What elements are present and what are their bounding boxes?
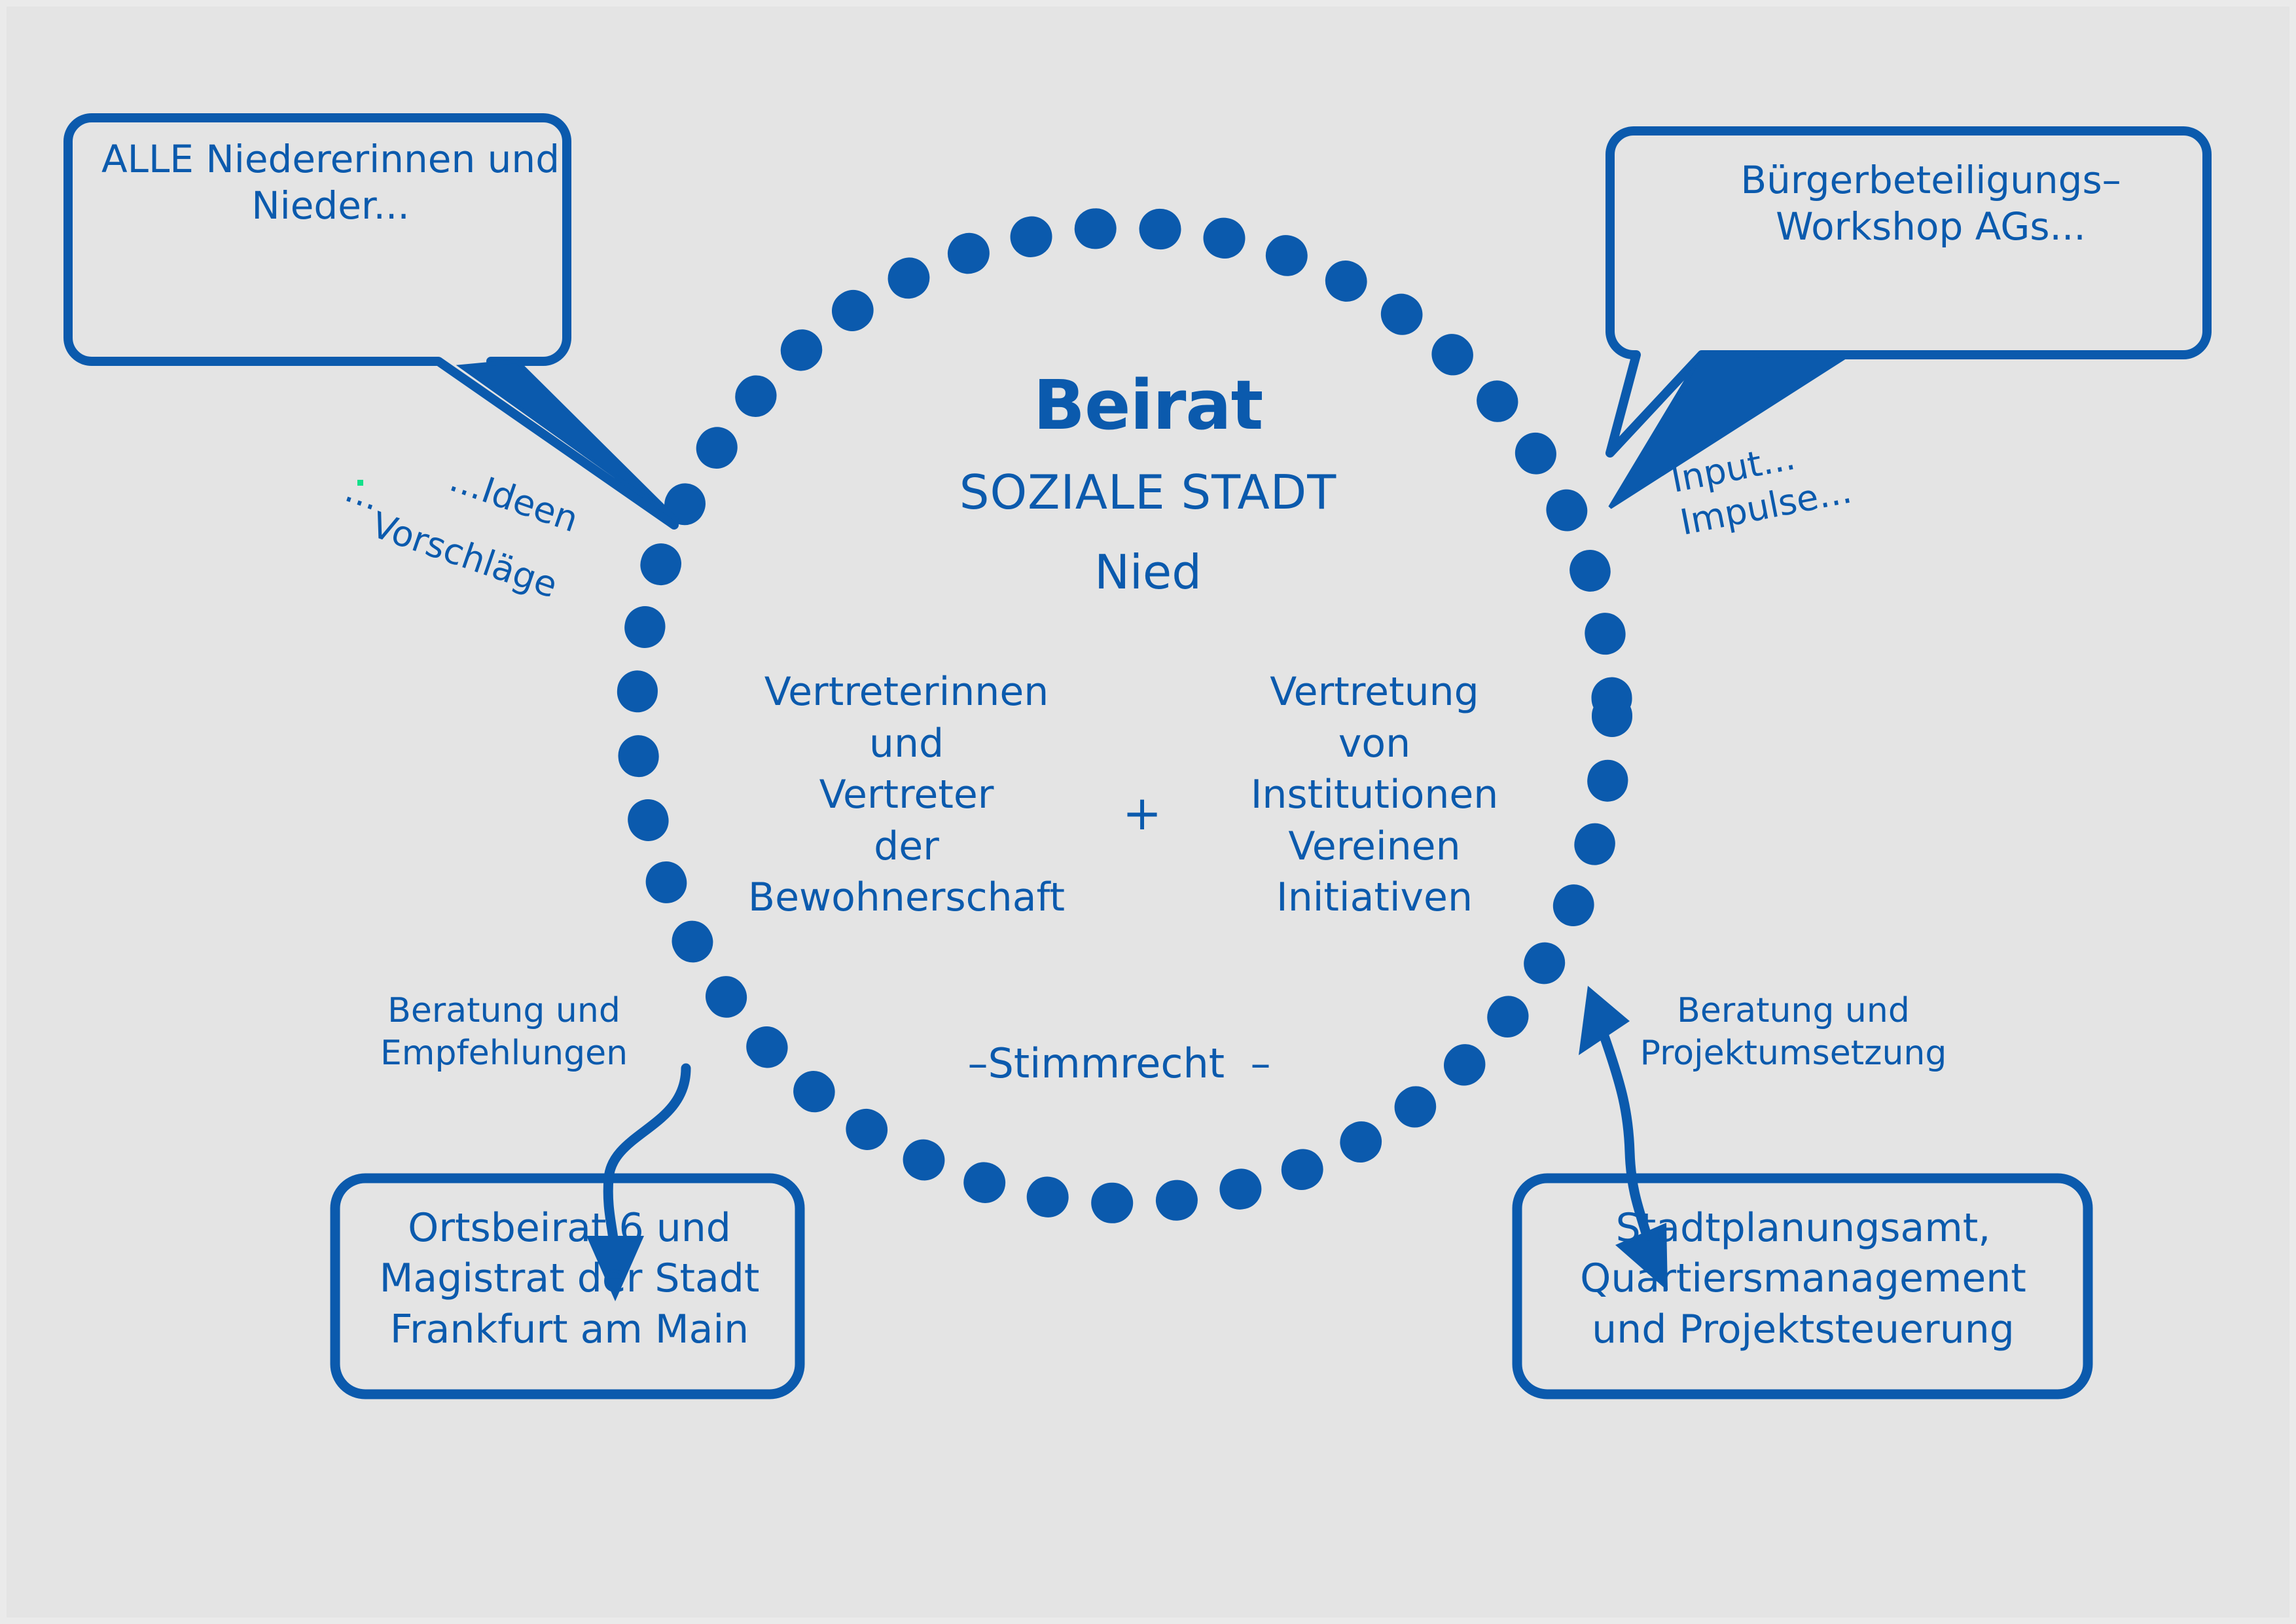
box-ortsbeirat-label: Ortsbeirat 6 und Magistrat der Stadt Fra…: [340, 1203, 798, 1355]
box-stadtplanungsamt-label: Stadtplanungsamt, Quartiersmanagement un…: [1518, 1203, 2088, 1355]
annotation-beratung-empfehlungen: Beratung und Empfehlungen: [367, 990, 641, 1075]
annotation-beratung-projektumsetzung: Beratung und Projektumsetzung: [1640, 990, 1947, 1075]
bubble-buergerbeteiligung-label: Bürgerbeteiligungs– Workshop AGs...: [1662, 157, 2199, 250]
bubble-alle-niederinnen-label: ALLE Niedererinnen und Nieder...: [92, 136, 569, 229]
green-marker-dot: [357, 480, 363, 486]
center-column-left: Vertreterinnen und Vertreter der Bewohne…: [726, 666, 1086, 924]
center-heading: Beirat: [0, 365, 2296, 446]
center-location: Nied: [0, 545, 2296, 600]
center-column-right: Vertretung von Institutionen Vereinen In…: [1204, 666, 1545, 924]
diagram-canvas: ALLE Niedererinnen und Nieder... Bürgerb…: [0, 0, 2296, 1624]
center-footnote-stimmrecht: –Stimmrecht –: [903, 1039, 1335, 1087]
plus-operator: +: [1080, 785, 1204, 841]
